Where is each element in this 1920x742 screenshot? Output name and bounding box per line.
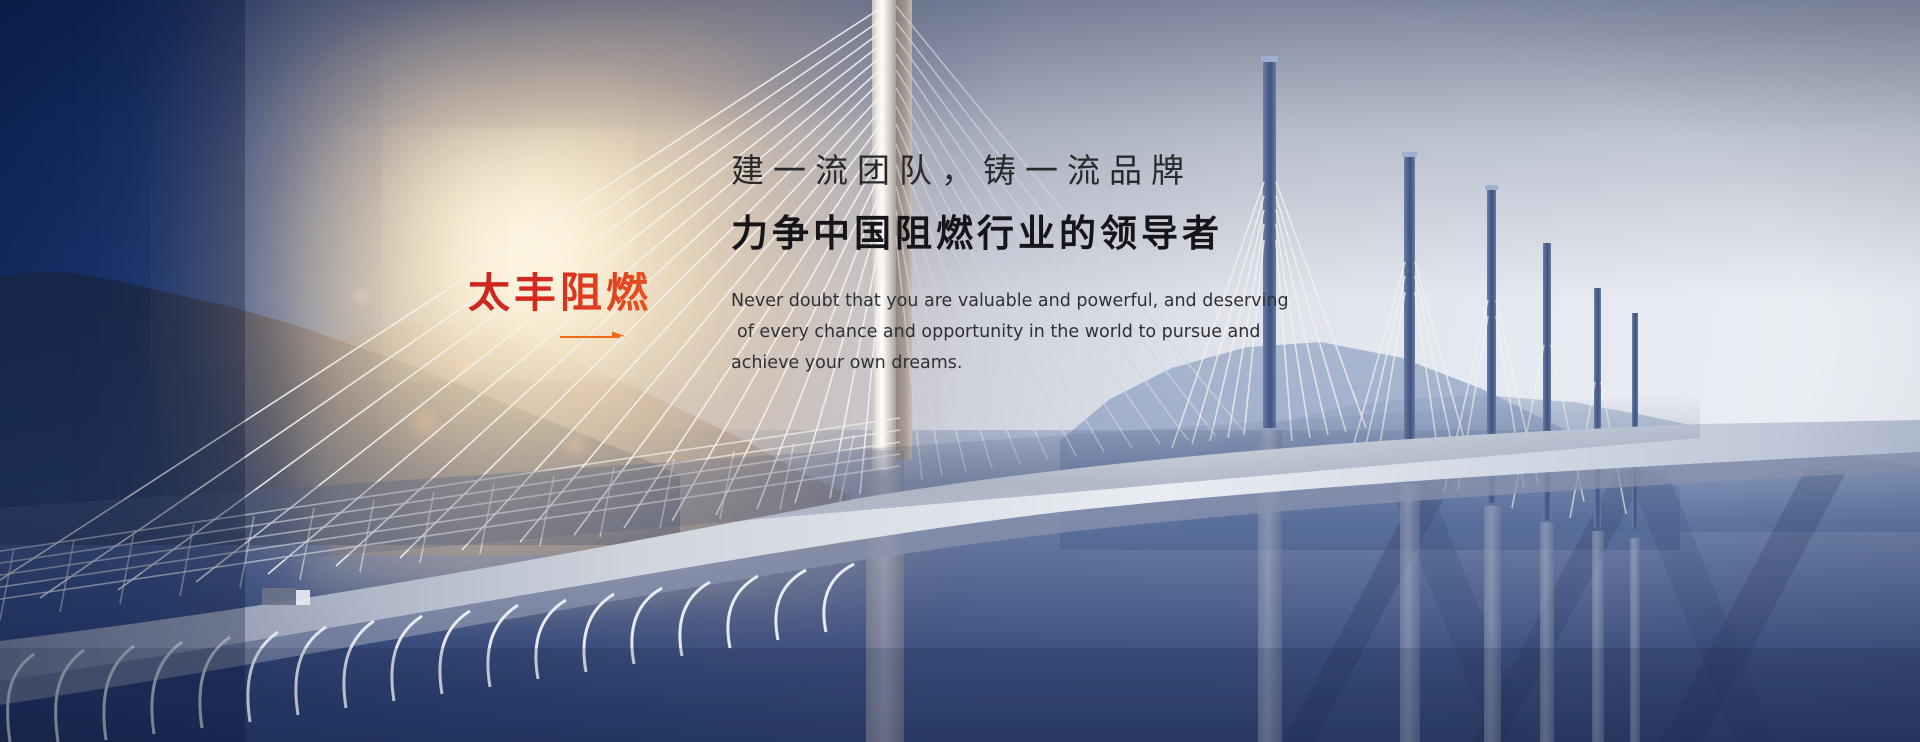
hero-banner: 太丰阻燃 建一流团队，铸一流品牌 力争中国阻燃行业的领导者 Never doub… (0, 0, 1920, 742)
company-logo-text: 太丰阻燃 (468, 272, 668, 314)
headline-primary: 建一流团队，铸一流品牌 (731, 150, 1431, 191)
subcopy-line-3: achieve your own dreams. (731, 348, 1331, 379)
headline-secondary: 力争中国阻燃行业的领导者 (731, 212, 1431, 256)
arrow-right-icon (560, 330, 628, 342)
company-logo[interactable]: 太丰阻燃 (468, 272, 668, 314)
hero-copy-block: 建一流团队，铸一流品牌 力争中国阻燃行业的领导者 Never doubt tha… (731, 150, 1431, 379)
subcopy-line-2: of every chance and opportunity in the w… (731, 317, 1331, 348)
subcopy-paragraph: Never doubt that you are valuable and po… (731, 286, 1331, 379)
subcopy-line-1: Never doubt that you are valuable and po… (731, 286, 1331, 317)
